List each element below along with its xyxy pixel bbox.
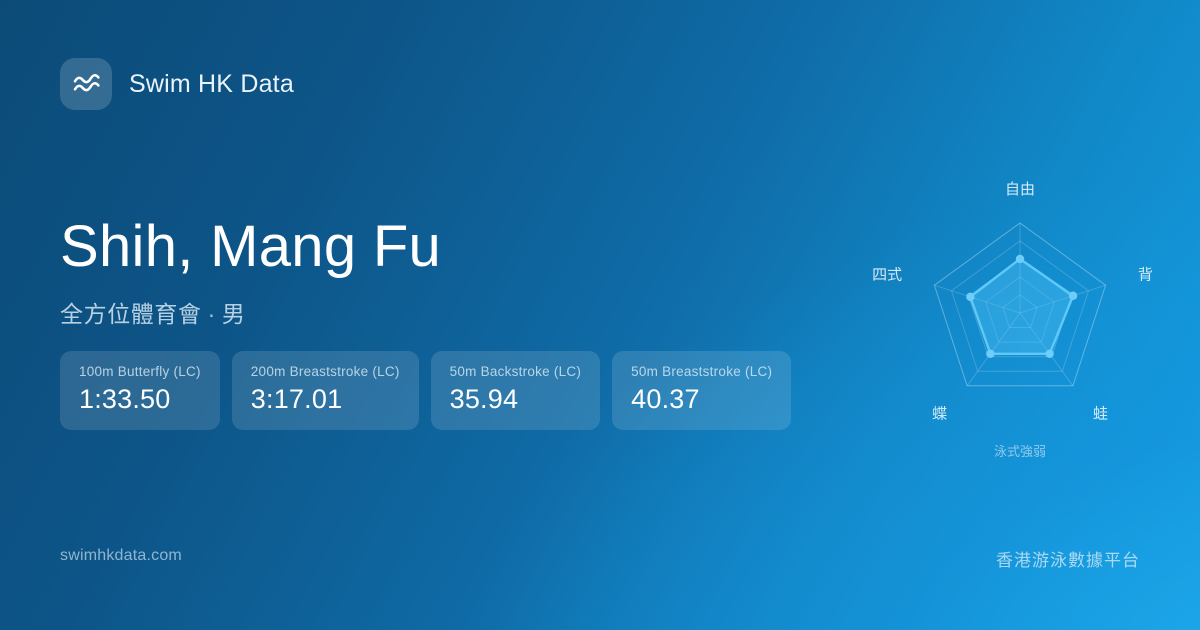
radar-data-point	[1016, 255, 1024, 263]
stat-time-value: 40.37	[631, 384, 772, 415]
stat-event-label: 50m Breaststroke (LC)	[631, 364, 772, 379]
radar-caption: 泳式強弱	[994, 444, 1046, 459]
footer-site-url: swimhkdata.com	[60, 547, 182, 565]
radar-axis-label: 蛙	[1093, 405, 1108, 422]
club-name: 全方位體育會	[60, 301, 202, 327]
app-name: Swim HK Data	[129, 70, 294, 99]
gender-label: 男	[222, 301, 246, 327]
stat-card[interactable]: 100m Butterfly (LC) 1:33.50	[60, 351, 220, 430]
page-title: Shih, Mang Fu	[60, 218, 441, 276]
stat-card[interactable]: 50m Breaststroke (LC) 40.37	[612, 351, 791, 430]
stat-time-value: 35.94	[450, 384, 582, 415]
stat-event-label: 50m Backstroke (LC)	[450, 364, 582, 379]
athlete-meta: 全方位體育會·男	[60, 295, 441, 329]
radar-data-point	[1045, 350, 1053, 358]
radar-data-point	[966, 293, 974, 301]
radar-data-point	[986, 350, 994, 358]
radar-data-point	[1069, 292, 1077, 300]
stat-time-value: 3:17.01	[251, 384, 400, 415]
stat-time-value: 1:33.50	[79, 384, 201, 415]
stat-card[interactable]: 50m Backstroke (LC) 35.94	[431, 351, 601, 430]
stat-card-list: 100m Butterfly (LC) 1:33.50 200m Breasts…	[60, 351, 791, 430]
brand-lockup: Swim HK Data	[60, 58, 294, 110]
stroke-strength-radar-chart: 自由背蛙蝶四式 泳式強弱	[860, 160, 1180, 480]
radar-axis-label: 背	[1138, 267, 1153, 284]
headline-block: Shih, Mang Fu 全方位體育會·男	[60, 218, 441, 329]
stat-card[interactable]: 200m Breaststroke (LC) 3:17.01	[232, 351, 419, 430]
meta-separator: ·	[202, 301, 222, 328]
wave-icon	[71, 71, 101, 97]
stat-event-label: 200m Breaststroke (LC)	[251, 364, 400, 379]
radar-axis-label: 蝶	[932, 405, 947, 422]
share-card: Swim HK Data Shih, Mang Fu 全方位體育會·男 100m…	[0, 0, 1200, 630]
radar-axis-label: 四式	[872, 267, 902, 284]
footer-tagline: 香港游泳數據平台	[996, 546, 1140, 571]
stat-event-label: 100m Butterfly (LC)	[79, 364, 201, 379]
app-logo-tile	[60, 58, 112, 110]
radar-axis-label: 自由	[1005, 181, 1035, 198]
